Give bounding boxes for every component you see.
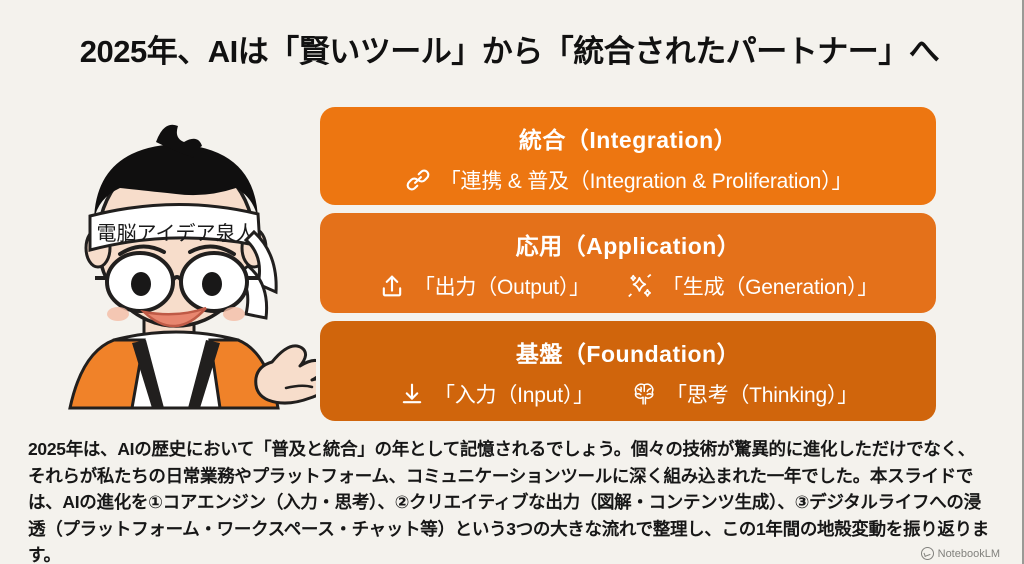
concept-bars: 統合（Integration） 「連携 & 普及（Integration & P… [320, 107, 936, 429]
character-hand [256, 346, 316, 403]
watermark-label: NotebookLM [938, 548, 1000, 560]
body-paragraph: 2025年は、AIの歴史において「普及と統合」の年として記憶されるでしょう。個々… [28, 436, 990, 564]
headband-text: 電脳アイデア泉人 [97, 222, 256, 245]
bar-foundation-item-thinking: 「思考（Thinking）」 [630, 379, 858, 409]
link-icon [404, 166, 432, 194]
brain-icon [630, 380, 658, 408]
bar-integration-item-link-label: 「連携 & 普及（Integration & Proliferation）」 [440, 165, 853, 195]
bar-application-item-output: 「出力（Output）」 [378, 271, 590, 301]
bar-application-item-output-label: 「出力（Output）」 [414, 271, 590, 301]
bar-integration[interactable]: 統合（Integration） 「連携 & 普及（Integration & P… [320, 107, 936, 205]
watermark: NotebookLM [921, 547, 1000, 560]
character-illustration: 電脳アイデア泉人 [36, 100, 316, 430]
page-title: 2025年、AIは「賢いツール」から「統合されたパートナー」へ [0, 26, 1019, 71]
bar-foundation[interactable]: 基盤（Foundation） 「入力（Input）」 [320, 321, 936, 421]
notebooklm-logo-icon [921, 547, 934, 560]
bar-integration-title: 統合（Integration） [320, 123, 936, 158]
bar-foundation-item-input: 「入力（Input）」 [398, 379, 594, 409]
download-icon [398, 380, 426, 408]
sparkle-icon [626, 272, 654, 300]
bar-application-title: 応用（Application） [320, 229, 936, 264]
bar-foundation-item-input-label: 「入力（Input）」 [434, 379, 594, 409]
bar-application[interactable]: 応用（Application） 「出力（Output）」 [320, 213, 936, 313]
upload-icon [378, 272, 406, 300]
bar-foundation-title: 基盤（Foundation） [320, 337, 936, 372]
bar-application-item-generation-label: 「生成（Generation）」 [662, 271, 878, 301]
slide-canvas: 2025年、AIは「賢いツール」から「統合されたパートナー」へ [0, 0, 1024, 564]
bar-integration-item-link: 「連携 & 普及（Integration & Proliferation）」 [404, 165, 853, 195]
bar-application-item-generation: 「生成（Generation）」 [626, 271, 878, 301]
bar-foundation-item-thinking-label: 「思考（Thinking）」 [666, 379, 858, 409]
headband: 電脳アイデア泉人 [90, 204, 260, 250]
